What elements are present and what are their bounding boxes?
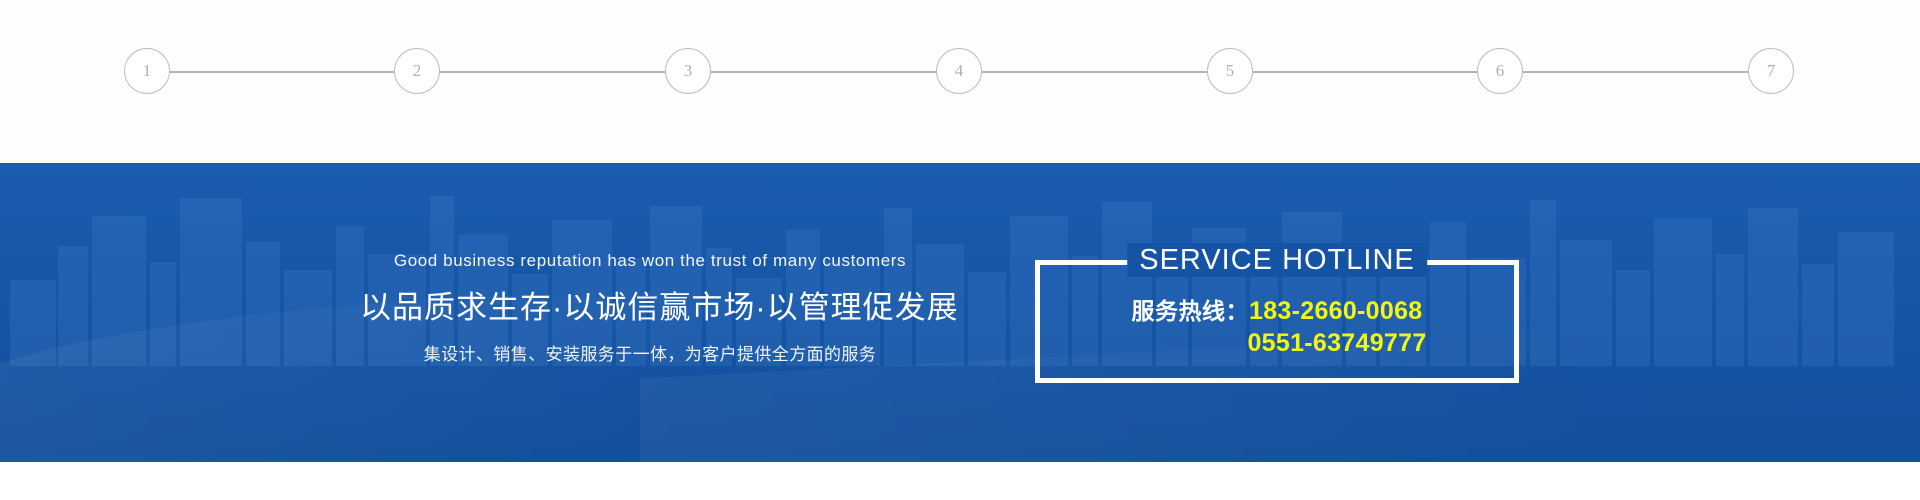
step-circle-5[interactable]: 5 (1207, 48, 1253, 94)
slogan-chinese-sub: 集设计、销售、安装服务于一体，为客户提供全方面的服务 (360, 340, 940, 365)
hotline-title: SERVICE HOTLINE (1127, 243, 1427, 277)
step-circle-2[interactable]: 2 (394, 48, 440, 94)
step-circle-6[interactable]: 6 (1477, 48, 1523, 94)
step-circle-1[interactable]: 1 (124, 48, 170, 94)
hotline-label: 服务热线： (1132, 297, 1250, 326)
hotline-frame: SERVICE HOTLINE 服务热线： 183-2660-0068 0551… (1035, 260, 1519, 383)
slogan-chinese-main: 以品质求生存·以诚信赢市场·以管理促发展 (360, 282, 940, 327)
step-progress-bar: 1 2 3 4 5 6 7 (124, 48, 1794, 96)
step-circle-4[interactable]: 4 (936, 48, 982, 94)
bottom-white-strip (0, 462, 1920, 500)
hotline-row-secondary: 0551-63749777 (1040, 327, 1514, 359)
step-circle-7[interactable]: 7 (1748, 48, 1794, 94)
stepper-band: 1 2 3 4 5 6 7 (0, 0, 1920, 163)
hotline-rows: 服务热线： 183-2660-0068 0551-63749777 (1040, 295, 1514, 359)
promo-banner: Good business reputation has won the tru… (0, 163, 1920, 462)
step-circle-3[interactable]: 3 (665, 48, 711, 94)
hotline-row-primary: 服务热线： 183-2660-0068 (1040, 295, 1514, 327)
page-root: 1 2 3 4 5 6 7 (0, 0, 1920, 500)
slogan-block: Good business reputation has won the tru… (360, 251, 940, 365)
hotline-phone-secondary[interactable]: 0551-63749777 (1247, 327, 1426, 359)
slogan-english: Good business reputation has won the tru… (360, 251, 940, 271)
hotline-phone-primary[interactable]: 183-2660-0068 (1249, 295, 1423, 327)
